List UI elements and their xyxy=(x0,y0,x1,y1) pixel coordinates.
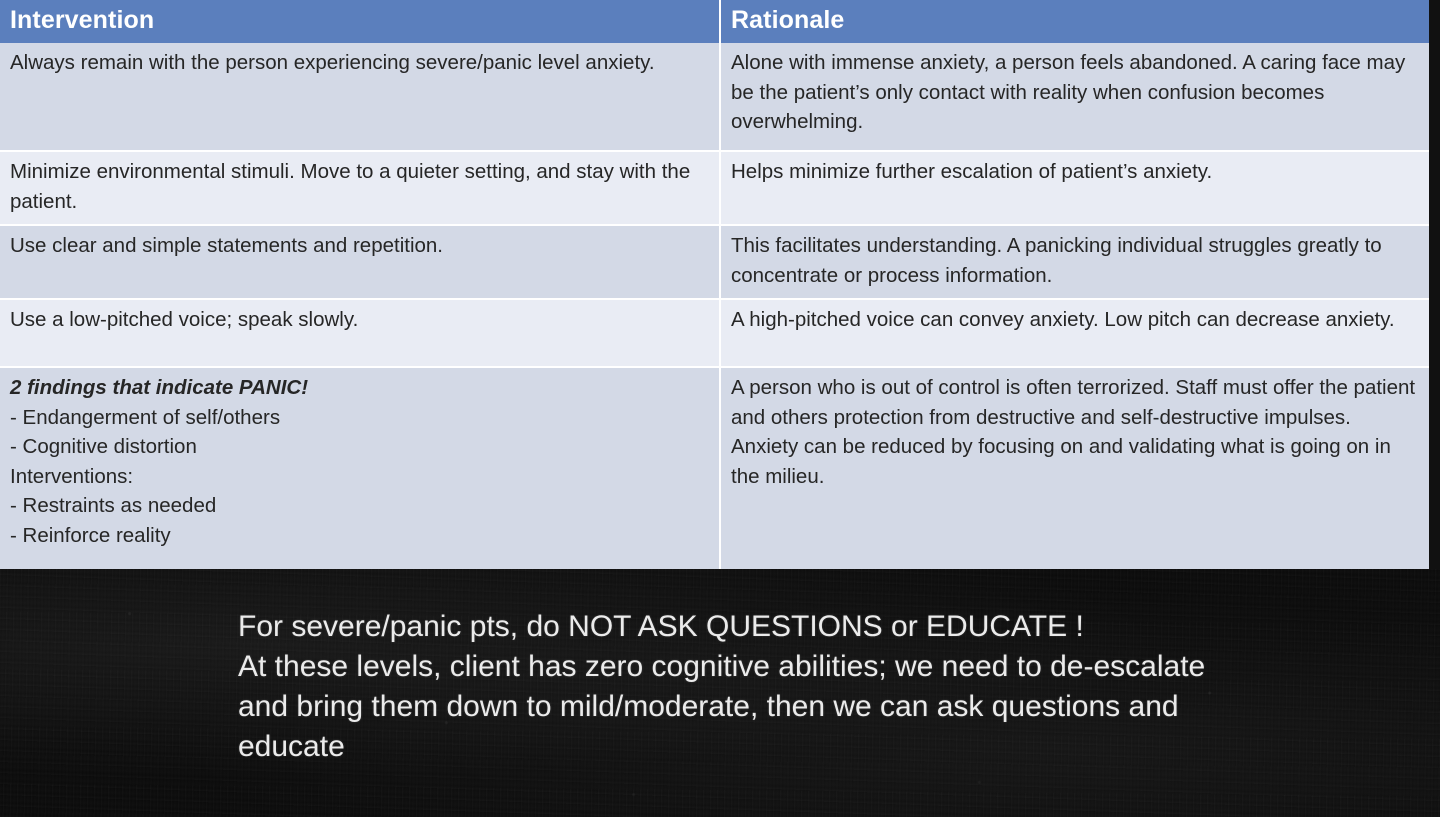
slide-canvas: Intervention Rationale Always remain wit… xyxy=(0,0,1440,817)
intervention-rationale-table: Intervention Rationale Always remain wit… xyxy=(0,0,1429,588)
panic-rationale-paragraph: Anxiety can be reduced by focusing on an… xyxy=(731,432,1417,491)
column-header-intervention: Intervention xyxy=(0,0,720,43)
column-header-rationale: Rationale xyxy=(720,0,1429,43)
note-line-1: For severe/panic pts, do NOT ASK QUESTIO… xyxy=(238,607,1248,647)
slide-right-edge xyxy=(1429,0,1440,569)
cell-intervention-3: Use clear and simple statements and repe… xyxy=(0,225,720,299)
cell-intervention-1: Always remain with the person experienci… xyxy=(0,43,720,151)
table-row: Use a low-pitched voice; speak slowly. A… xyxy=(0,299,1429,367)
cell-rationale-1: Alone with immense anxiety, a person fee… xyxy=(720,43,1429,151)
table-header-row: Intervention Rationale xyxy=(0,0,1429,43)
table-row: Use clear and simple statements and repe… xyxy=(0,225,1429,299)
table-row: 2 findings that indicate PANIC! - Endang… xyxy=(0,367,1429,587)
panic-interventions-label: Interventions: xyxy=(10,462,707,492)
cell-rationale-4: A high-pitched voice can convey anxiety.… xyxy=(720,299,1429,367)
cell-rationale-5: A person who is out of control is often … xyxy=(720,367,1429,587)
table-body: Always remain with the person experienci… xyxy=(0,43,1429,587)
panic-findings-heading: 2 findings that indicate PANIC! xyxy=(10,373,707,403)
table-header: Intervention Rationale xyxy=(0,0,1429,43)
panic-intervention-line: - Restraints as needed xyxy=(10,491,707,521)
panic-rationale-block: A person who is out of control is often … xyxy=(731,373,1417,491)
table-row: Minimize environmental stimuli. Move to … xyxy=(0,151,1429,225)
table-row: Always remain with the person experienci… xyxy=(0,43,1429,151)
panic-finding-line: - Cognitive distortion xyxy=(10,432,707,462)
panic-findings-block: 2 findings that indicate PANIC! - Endang… xyxy=(10,373,707,550)
cell-rationale-3: This facilitates understanding. A panick… xyxy=(720,225,1429,299)
chalkboard-note-text: For severe/panic pts, do NOT ASK QUESTIO… xyxy=(238,607,1248,767)
panic-rationale-paragraph: A person who is out of control is often … xyxy=(731,373,1417,432)
panic-finding-line: - Endangerment of self/others xyxy=(10,403,707,433)
cell-intervention-5: 2 findings that indicate PANIC! - Endang… xyxy=(0,367,720,587)
note-line-2: At these levels, client has zero cogniti… xyxy=(238,647,1248,767)
cell-rationale-2: Helps minimize further escalation of pat… xyxy=(720,151,1429,225)
cell-intervention-4: Use a low-pitched voice; speak slowly. xyxy=(0,299,720,367)
panic-intervention-line: - Reinforce reality xyxy=(10,521,707,551)
intervention-rationale-table-container: Intervention Rationale Always remain wit… xyxy=(0,0,1429,569)
cell-intervention-2: Minimize environmental stimuli. Move to … xyxy=(0,151,720,225)
